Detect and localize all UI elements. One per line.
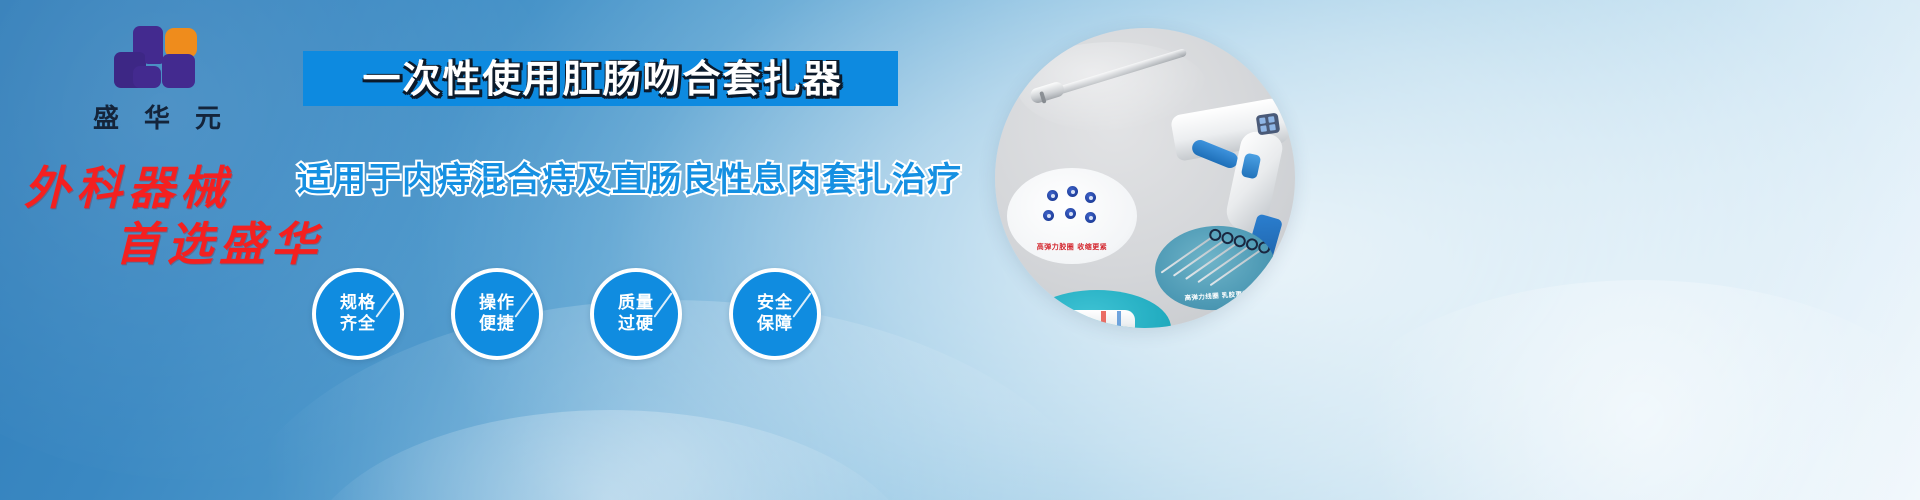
badge-text-line-2: 便捷	[455, 314, 539, 335]
background-swoosh-bottom	[300, 410, 920, 500]
device-keypad-icon	[1256, 113, 1281, 136]
slogan-line-2: 首选盛华	[115, 208, 323, 274]
badge-text-line-1: 规格	[316, 293, 400, 314]
feature-badge-label: 规格 齐全	[316, 293, 400, 335]
rubber-rings-caption: 高弹力胶圈 收缩更紧	[1007, 242, 1137, 252]
badge-text-line-2: 保障	[733, 314, 817, 335]
page-title: 一次性使用肛肠吻合套扎器	[330, 55, 875, 103]
feature-badge-label: 安全 保障	[733, 293, 817, 335]
page-subtitle: 适用于内痔混合痔及直肠良性息肉套扎治疗	[297, 158, 917, 202]
feature-badge-quality[interactable]: 质量 过硬	[590, 268, 682, 360]
badge-text-line-1: 质量	[594, 293, 678, 314]
brand-name-text: 盛 华 元	[62, 98, 252, 135]
feature-badge-group: 规格 齐全 操作 便捷 质量 过硬 安全 保障	[306, 268, 846, 368]
device-tip-icon	[1029, 80, 1066, 104]
feature-badge-label: 操作 便捷	[455, 293, 539, 335]
device-head-inset	[1023, 290, 1171, 328]
badge-text-line-1: 安全	[733, 293, 817, 314]
product-banner: 盛 华 元 一次性使用肛肠吻合套扎器 适用于内痔混合痔及直肠良性息肉套扎治疗 外…	[0, 0, 1920, 500]
badge-text-line-2: 过硬	[594, 314, 678, 335]
feature-badge-label: 质量 过硬	[594, 293, 678, 335]
badge-text-line-1: 操作	[455, 293, 539, 314]
feature-badge-operation[interactable]: 操作 便捷	[451, 268, 543, 360]
ligation-needles-caption: 高弹力线圈 乳胶更紧	[1157, 286, 1277, 304]
product-photo-circle[interactable]: 高弹力胶圈 收缩更紧 高弹力线圈 乳胶更紧	[995, 28, 1295, 328]
rubber-rings-inset: 高弹力胶圈 收缩更紧	[1007, 168, 1137, 264]
brand-logo[interactable]: 盛 华 元	[62, 26, 252, 135]
device-head-tube-icon	[1057, 310, 1135, 328]
background-glow-right	[1320, 280, 1920, 500]
badge-text-line-2: 齐全	[316, 314, 400, 335]
feature-badge-specifications[interactable]: 规格 齐全	[312, 268, 404, 360]
feature-badge-safety[interactable]: 安全 保障	[729, 268, 821, 360]
shenghuayuan-logo-mark	[111, 26, 203, 92]
